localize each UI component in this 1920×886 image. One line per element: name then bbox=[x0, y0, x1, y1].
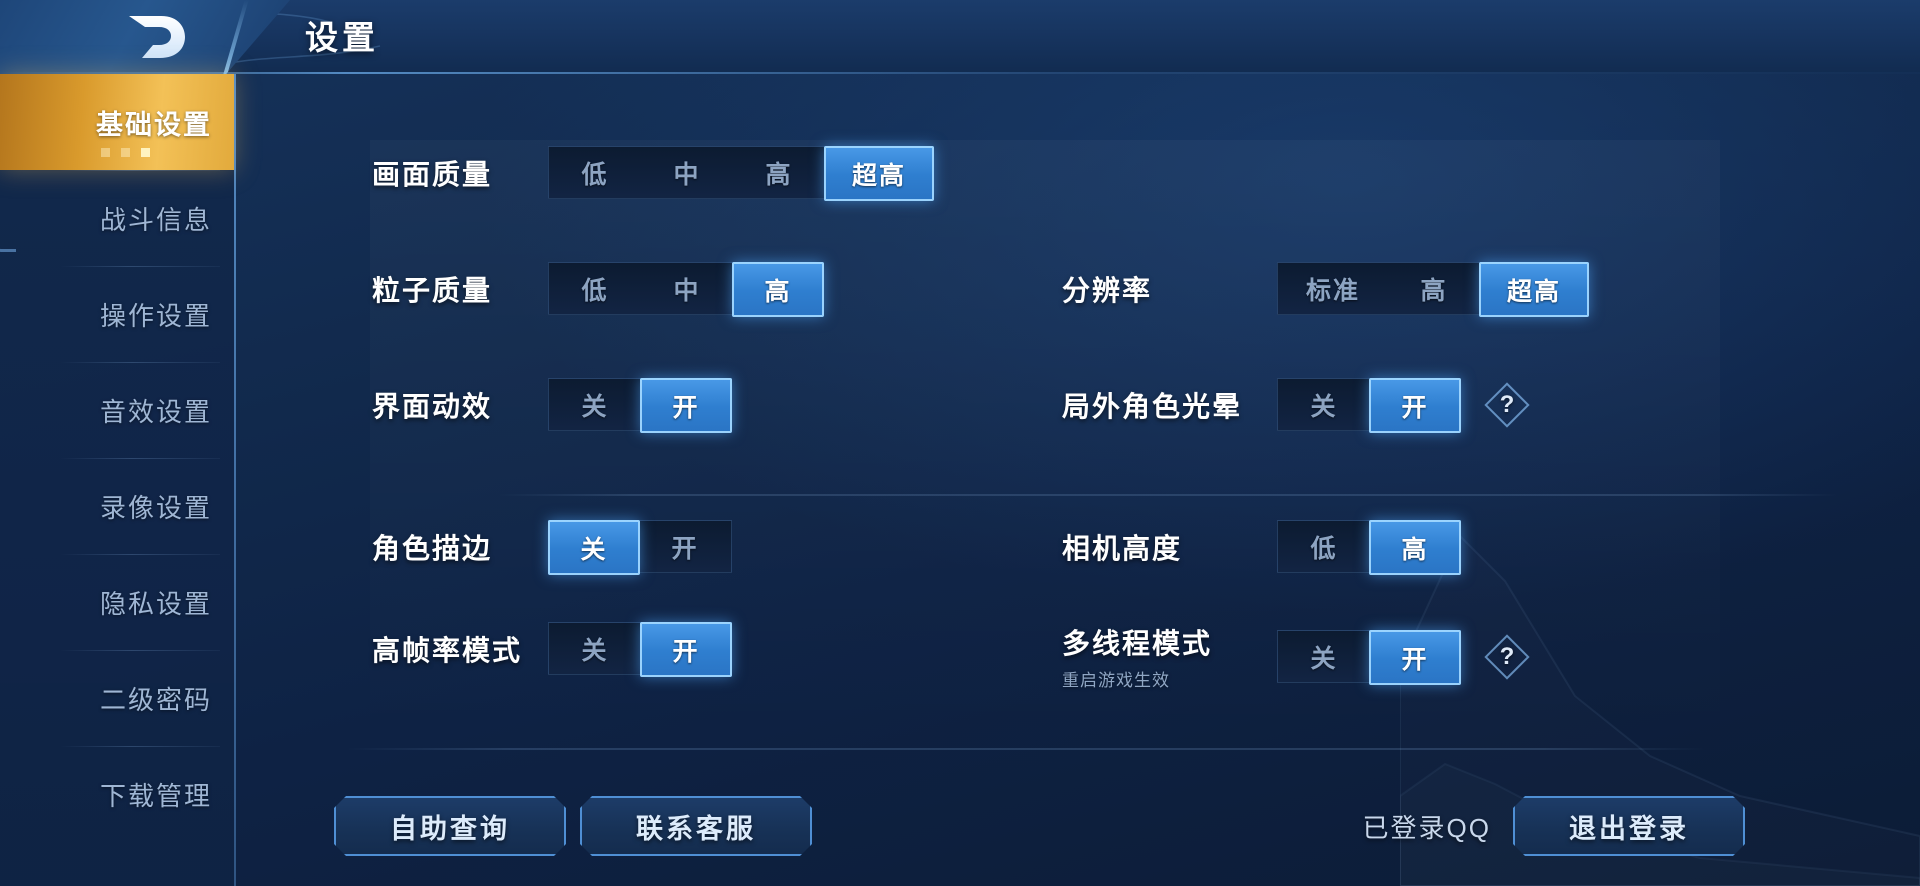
setting-cell-camera-height: 相机高度 低 高 bbox=[1062, 520, 1461, 573]
contact-support-button[interactable]: 联系客服 bbox=[580, 796, 812, 856]
option-ultra-high[interactable]: 超高 bbox=[1479, 262, 1589, 317]
segmented-control-ui-effects[interactable]: 关 开 bbox=[548, 378, 732, 431]
setting-row-ui-effects-character-glow: 界面动效 关 开 局外角色光晕 关 开 bbox=[372, 378, 1832, 494]
sidebar-item-label: 下载管理 bbox=[100, 776, 212, 813]
setting-cell-resolution: 分辨率 标准 高 超高 bbox=[1062, 262, 1589, 315]
option-off[interactable]: 关 bbox=[1278, 379, 1370, 430]
setting-cell-character-outline: 角色描边 关 开 bbox=[372, 520, 732, 573]
sidebar-item-secondary-password[interactable]: 二级密码 bbox=[0, 650, 234, 746]
option-medium[interactable]: 中 bbox=[641, 147, 733, 198]
setting-sublabel: 重启游戏生效 bbox=[1062, 666, 1277, 691]
setting-label: 相机高度 bbox=[1062, 527, 1277, 567]
option-off[interactable]: 关 bbox=[549, 379, 641, 430]
game-logo-icon[interactable] bbox=[125, 12, 187, 62]
option-on[interactable]: 开 bbox=[640, 378, 732, 433]
setting-row-particle-quality-resolution: 粒子质量 低 中 高 分辨率 标准 高 超高 bbox=[372, 262, 1832, 378]
setting-label: 界面动效 bbox=[372, 385, 548, 425]
option-on[interactable]: 开 bbox=[1369, 378, 1461, 433]
setting-label: 分辨率 bbox=[1062, 269, 1277, 309]
help-question-mark: ? bbox=[1500, 643, 1515, 671]
setting-row-image-quality: 画面质量 低 中 高 超高 bbox=[372, 146, 1832, 262]
setting-cell-image-quality: 画面质量 低 中 高 超高 bbox=[372, 146, 934, 199]
sidebar-item-battle-info[interactable]: 战斗信息 bbox=[0, 170, 234, 266]
sidebar-item-label: 操作设置 bbox=[100, 296, 212, 333]
segmented-control-character-outline[interactable]: 关 开 bbox=[548, 520, 732, 573]
sidebar-item-recording-settings[interactable]: 录像设置 bbox=[0, 458, 234, 554]
option-high[interactable]: 高 bbox=[1369, 520, 1461, 575]
sidebar-item-control-settings[interactable]: 操作设置 bbox=[0, 266, 234, 362]
option-on[interactable]: 开 bbox=[1369, 630, 1461, 685]
option-low[interactable]: 低 bbox=[549, 147, 641, 198]
self-service-button[interactable]: 自助查询 bbox=[334, 796, 566, 856]
sidebar-item-privacy-settings[interactable]: 隐私设置 bbox=[0, 554, 234, 650]
setting-cell-particle-quality: 粒子质量 低 中 高 bbox=[372, 262, 824, 315]
setting-row-character-outline-camera-height: 角色描边 关 开 相机高度 低 高 bbox=[372, 494, 1832, 612]
footer-divider bbox=[346, 748, 1706, 750]
footer-bar: 自助查询 联系客服 已登录QQ 退出登录 bbox=[236, 748, 1920, 886]
help-icon[interactable]: ? bbox=[1487, 385, 1527, 425]
logout-button[interactable]: 退出登录 bbox=[1513, 796, 1745, 856]
footer-left-buttons: 自助查询 联系客服 bbox=[334, 796, 812, 856]
sidebar-item-basic-settings[interactable]: 基础设置 bbox=[0, 74, 234, 170]
option-low[interactable]: 低 bbox=[1278, 521, 1370, 572]
setting-label: 局外角色光晕 bbox=[1062, 385, 1277, 425]
help-question-mark: ? bbox=[1500, 391, 1515, 419]
sidebar-item-label: 二级密码 bbox=[100, 680, 212, 717]
footer-right-buttons: 已登录QQ 退出登录 bbox=[1363, 796, 1745, 856]
option-low[interactable]: 低 bbox=[549, 263, 641, 314]
setting-label: 高帧率模式 bbox=[372, 629, 548, 669]
settings-screen: 设置 基础设置 战斗信息 操作设置 音效设置 录像设置 隐私设置 二级密码 下载… bbox=[0, 0, 1920, 886]
setting-cell-multithread: 多线程模式 重启游戏生效 关 开 ? bbox=[1062, 622, 1527, 691]
segmented-control-camera-height[interactable]: 低 高 bbox=[1277, 520, 1461, 573]
login-status-text: 已登录QQ bbox=[1363, 808, 1491, 845]
setting-label: 角色描边 bbox=[372, 527, 548, 567]
sidebar-item-label: 隐私设置 bbox=[100, 584, 212, 621]
segmented-control-multithread[interactable]: 关 开 bbox=[1277, 630, 1461, 683]
option-off[interactable]: 关 bbox=[1278, 631, 1370, 682]
option-off[interactable]: 关 bbox=[548, 520, 640, 575]
option-medium[interactable]: 中 bbox=[641, 263, 733, 314]
setting-cell-character-glow: 局外角色光晕 关 开 ? bbox=[1062, 378, 1527, 431]
option-high[interactable]: 高 bbox=[733, 147, 825, 198]
active-indicator-dots bbox=[101, 148, 150, 157]
sidebar-item-label: 录像设置 bbox=[100, 488, 212, 525]
settings-content: 画面质量 低 中 高 超高 粒子质量 低 bbox=[236, 74, 1920, 886]
option-high[interactable]: 高 bbox=[732, 262, 824, 317]
option-off[interactable]: 关 bbox=[549, 623, 641, 674]
sidebar-item-label: 音效设置 bbox=[100, 392, 212, 429]
page-title: 设置 bbox=[305, 11, 379, 59]
segmented-control-particle-quality[interactable]: 低 中 高 bbox=[548, 262, 824, 315]
setting-cell-ui-effects: 界面动效 关 开 bbox=[372, 378, 732, 431]
section-divider bbox=[498, 494, 1838, 496]
segmented-control-image-quality[interactable]: 低 中 高 超高 bbox=[548, 146, 934, 199]
segmented-control-resolution[interactable]: 标准 高 超高 bbox=[1277, 262, 1589, 315]
setting-row-high-fps-multithread: 高帧率模式 关 开 多线程模式 重启游戏生效 关 开 bbox=[372, 612, 1832, 728]
option-standard[interactable]: 标准 bbox=[1278, 263, 1388, 314]
setting-label: 多线程模式 bbox=[1062, 622, 1277, 662]
option-high[interactable]: 高 bbox=[1388, 263, 1480, 314]
sidebar-item-audio-settings[interactable]: 音效设置 bbox=[0, 362, 234, 458]
settings-rows: 画面质量 低 中 高 超高 粒子质量 低 bbox=[372, 146, 1832, 728]
option-on[interactable]: 开 bbox=[639, 521, 731, 572]
help-icon[interactable]: ? bbox=[1487, 637, 1527, 677]
option-on[interactable]: 开 bbox=[640, 622, 732, 677]
setting-label: 粒子质量 bbox=[372, 269, 548, 309]
sidebar-item-label: 基础设置 bbox=[96, 103, 212, 142]
segmented-control-character-glow[interactable]: 关 开 bbox=[1277, 378, 1461, 431]
option-ultra-high[interactable]: 超高 bbox=[824, 146, 934, 201]
segmented-control-high-fps[interactable]: 关 开 bbox=[548, 622, 732, 675]
sidebar-item-label: 战斗信息 bbox=[100, 200, 212, 237]
setting-label: 画面质量 bbox=[372, 153, 548, 193]
sidebar-item-download-manager[interactable]: 下载管理 bbox=[0, 746, 234, 842]
top-bar: 设置 bbox=[0, 0, 1920, 74]
sidebar: 基础设置 战斗信息 操作设置 音效设置 录像设置 隐私设置 二级密码 下载管理 bbox=[0, 74, 236, 886]
setting-cell-high-fps: 高帧率模式 关 开 bbox=[372, 622, 732, 675]
